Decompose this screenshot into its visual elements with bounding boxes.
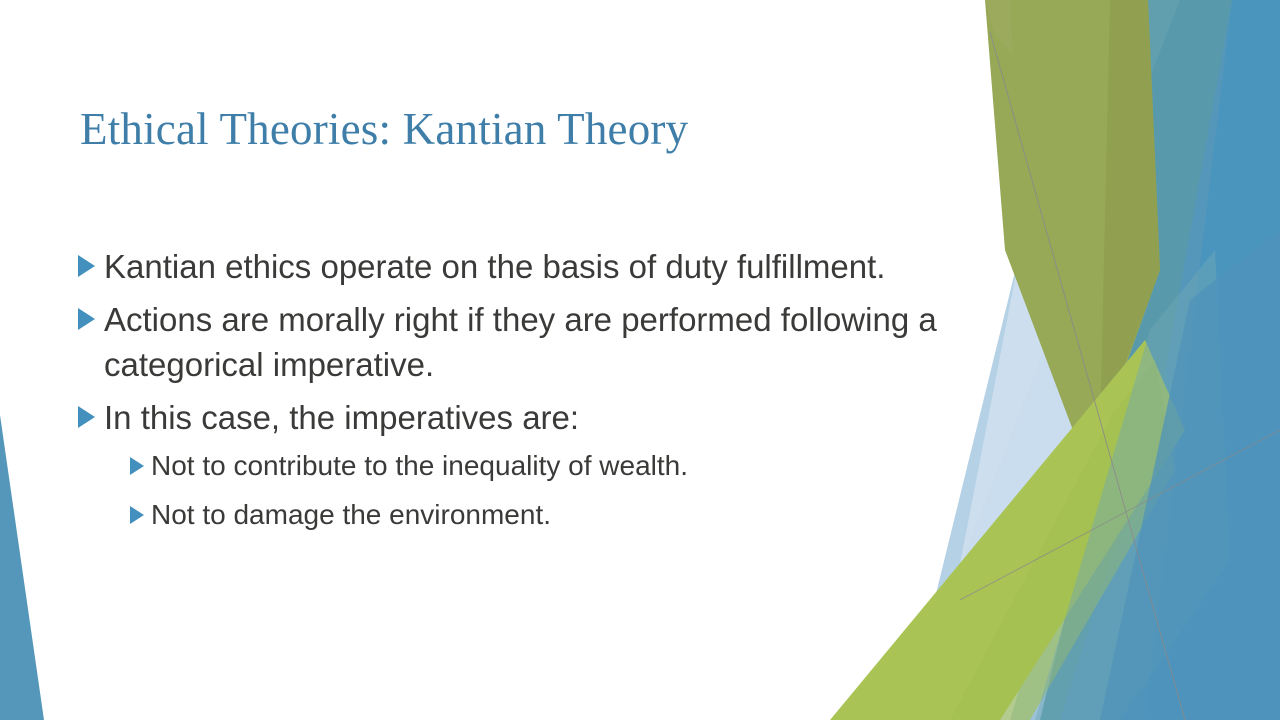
triangle-right-icon <box>78 308 95 330</box>
olive-panel-dark <box>1100 0 1160 430</box>
green-band-facet <box>950 360 1175 720</box>
blue-overlay-lower <box>1100 230 1280 720</box>
right-blue-column <box>1145 0 1280 720</box>
bullet-item: Actions are morally right if they are pe… <box>78 297 968 388</box>
triangle-right-icon <box>130 457 144 475</box>
title-placeholder: Ethical Theories: Kantian Theory <box>80 104 940 154</box>
teal-overlay-lower <box>1035 250 1230 720</box>
bullet-text: Actions are morally right if they are pe… <box>104 297 968 388</box>
bullet-text: Kantian ethics operate on the basis of d… <box>104 244 885 290</box>
page-title: Ethical Theories: Kantian Theory <box>80 104 940 154</box>
bullet-item: In this case, the imperatives are: <box>78 395 968 441</box>
olive-stripe <box>985 0 1013 55</box>
sub-bullet-text: Not to damage the environment. <box>151 496 551 535</box>
bullet-text: In this case, the imperatives are: <box>104 395 579 441</box>
hairline-diagonal-secondary <box>960 430 1280 600</box>
hairline-diagonal-primary <box>990 32 1185 720</box>
sub-bullet-item: Not to contribute to the inequality of w… <box>130 447 968 486</box>
content-placeholder: Kantian ethics operate on the basis of d… <box>78 244 968 544</box>
teal-band <box>960 0 1232 720</box>
left-blue-wedge <box>0 415 44 720</box>
slide-canvas: Ethical Theories: Kantian Theory Kantian… <box>0 0 1280 720</box>
triangle-right-icon <box>130 506 144 524</box>
bullet-item: Kantian ethics operate on the basis of d… <box>78 244 968 290</box>
sub-bullet-item: Not to damage the environment. <box>130 496 968 535</box>
sub-bullet-text: Not to contribute to the inequality of w… <box>151 447 688 486</box>
olive-panel <box>985 0 1160 470</box>
triangle-right-icon <box>78 406 95 428</box>
triangle-right-icon <box>78 255 95 277</box>
